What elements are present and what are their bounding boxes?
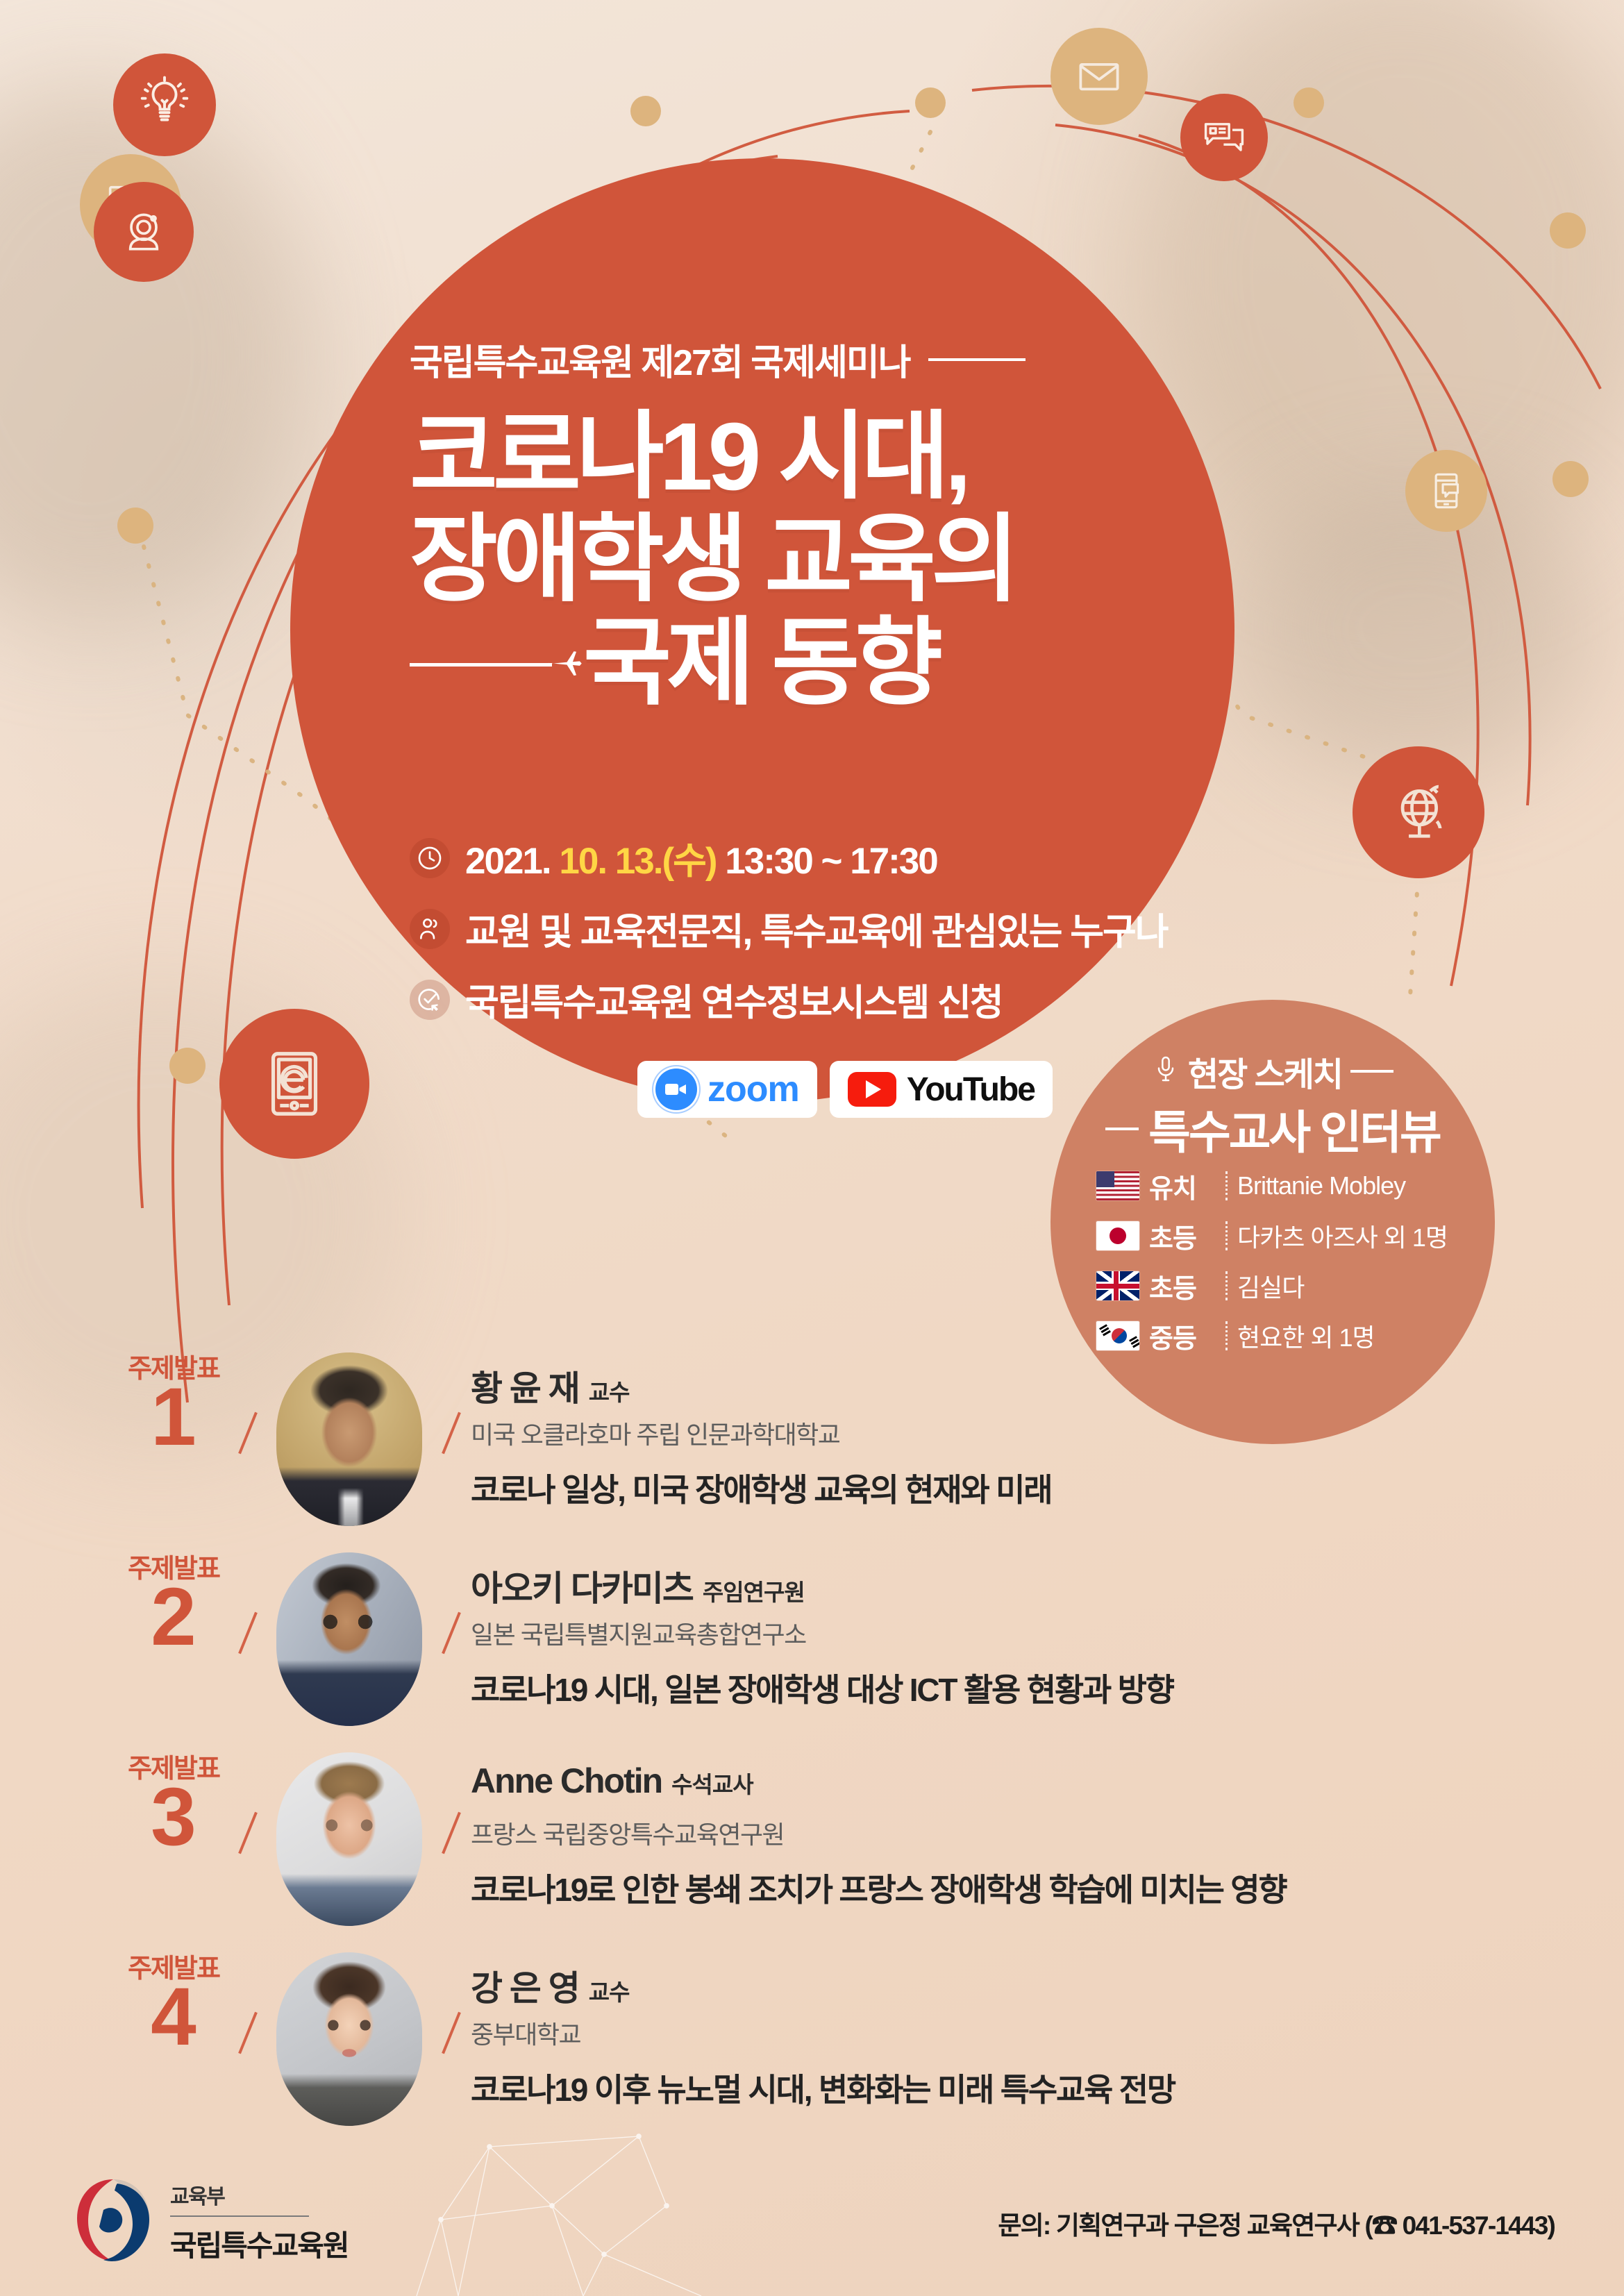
- speaker-org: 프랑스 국립중앙특수교육연구원: [471, 1815, 784, 1851]
- speaker-slash: [442, 1812, 461, 1854]
- speaker-role: 교수: [589, 1979, 630, 2005]
- info-row-audience: 교원 및 교육전문직, 특수교육에 관심있는 누구나: [410, 903, 1173, 955]
- ebook-tablet-icon: [219, 1009, 369, 1159]
- speaker-org: 미국 오클라호마 주립 인문과학대학교: [471, 1415, 839, 1451]
- interview-row: 초등 다카츠 아즈사 외 1명: [1096, 1211, 1457, 1261]
- ministry-name: 교육부: [170, 2179, 348, 2210]
- zoom-icon: [655, 1069, 697, 1110]
- speaker-photo: [276, 1752, 422, 1926]
- speaker-4: 주제발표 4 강 은 영교수 중부대학교 코로나19 이후 뉴노멀 시대, 변화…: [0, 1933, 1624, 2134]
- interview-level: 초등: [1149, 1217, 1216, 1255]
- flag-us-icon: [1096, 1171, 1139, 1200]
- speaker-topic: 코로나 일상, 미국 장애학생 교육의 현재와 미래: [471, 1465, 1051, 1511]
- date-prefix: 2021.: [465, 841, 551, 882]
- speaker-role: 주임연구원: [703, 1579, 805, 1605]
- speaker-1: 주제발표 1 황 윤 재교수 미국 오클라호마 주립 인문과학대학교 코로나 일…: [0, 1333, 1624, 1534]
- interview-name: 김실다: [1237, 1268, 1304, 1304]
- interview-heading-row: 특수교사 인터뷰: [1050, 1096, 1495, 1162]
- speaker-2: 주제발표 2 아오키 다카미츠주임연구원 일본 국립특별지원교육총합연구소 코로…: [0, 1533, 1624, 1734]
- clock-icon: [410, 838, 450, 878]
- microphone-icon: [1152, 1054, 1180, 1089]
- row-separator: [1225, 1221, 1228, 1250]
- row-separator: [1225, 1271, 1228, 1300]
- kicker-label: 국립특수교육원 제27회 국제세미나: [410, 333, 910, 385]
- brand-text: 교육부 국립특수교육원: [170, 2179, 348, 2265]
- speaker-topic: 코로나19 이후 뉴노멀 시대, 변화화는 미래 특수교육 전망: [471, 2065, 1175, 2111]
- speaker-topic: 코로나19 시대, 일본 장애학생 대상 ICT 활용 현황과 방향: [471, 1665, 1173, 1711]
- speaker-topic: 코로나19로 인한 봉쇄 조치가 프랑스 장애학생 학습에 미치는 영향: [471, 1865, 1287, 1911]
- click-check-icon: [410, 980, 450, 1020]
- interview-name: 다카츠 아즈사 외 1명: [1237, 1218, 1448, 1254]
- speaker-slash: [442, 1612, 461, 1654]
- hero-text: 국립특수교육원 제27회 국제세미나 코로나19 시대, 장애학생 교육의 국제…: [410, 333, 1243, 715]
- speaker-name-row: 황 윤 재교수: [471, 1361, 630, 1411]
- flag-uk-icon: [1096, 1271, 1139, 1300]
- mobile-chat-icon: [1405, 450, 1487, 532]
- speaker-name: Anne Chotin: [471, 1761, 662, 1800]
- audience-text: 교원 및 교육전문직, 특수교육에 관심있는 누구나: [465, 903, 1168, 955]
- row-separator: [1225, 1171, 1228, 1200]
- zoom-badge[interactable]: zoom: [637, 1061, 817, 1118]
- kicker-rule: [928, 358, 1026, 361]
- youtube-label: YouTube: [907, 1071, 1035, 1109]
- brand-lockup: 교육부 국립특수교육원: [73, 2177, 348, 2268]
- interview-level: 유치: [1149, 1167, 1216, 1205]
- title-line-3-row: 국제 동향: [410, 612, 1243, 715]
- date-highlight: 10. 13.(수): [559, 841, 716, 882]
- globe-icon: [1353, 746, 1484, 878]
- title-line-2: 장애학생 교육의: [410, 509, 1243, 612]
- seminar-poster: 국립특수교육원 제27회 국제세미나 코로나19 시대, 장애학생 교육의 국제…: [0, 0, 1624, 2296]
- speaker-number: 2: [97, 1576, 250, 1658]
- speaker-org: 중부대학교: [471, 2015, 580, 2051]
- time-range: 13:30 ~ 17:30: [725, 841, 937, 882]
- speaker-name: 황 윤 재: [471, 1369, 579, 1408]
- zoom-label: zoom: [708, 1069, 799, 1110]
- contact-info: 문의: 기획연구과 구은정 교육연구사 (☎ 041-537-1443): [998, 2204, 1555, 2242]
- interview-level: 초등: [1149, 1267, 1216, 1305]
- title-line-1: 코로나19 시대,: [410, 406, 1243, 509]
- speaker-3: 주제발표 3 Anne Chotin수석교사 프랑스 국립중앙특수교육연구원 코…: [0, 1733, 1624, 1934]
- heading-rule: [1105, 1128, 1139, 1130]
- speaker-name-row: Anne Chotin수석교사: [471, 1761, 753, 1801]
- eyebrow-rule: [1350, 1070, 1393, 1073]
- bg-blob-glasses: [1236, 479, 1597, 778]
- speaker-org: 일본 국립특별지원교육총합연구소: [471, 1615, 806, 1651]
- speaker-number: 3: [97, 1776, 250, 1858]
- seminar-kicker: 국립특수교육원 제27회 국제세미나: [410, 333, 1243, 385]
- speaker-photo: [276, 1952, 422, 2126]
- speaker-name: 강 은 영: [471, 1969, 579, 2008]
- envelope-icon: [1050, 28, 1148, 125]
- chat-news-icon: [1180, 94, 1268, 181]
- korea-government-emblem-icon: [73, 2177, 153, 2268]
- speaker-name-row: 아오키 다카미츠주임연구원: [471, 1561, 805, 1611]
- speaker-number: 1: [97, 1376, 250, 1458]
- lightbulb-icon: [113, 53, 216, 156]
- interview-row: 유치 Brittanie Mobley: [1096, 1161, 1457, 1211]
- platform-badges: zoom YouTube: [637, 1061, 1053, 1118]
- people-icon: [410, 909, 450, 949]
- webcam-icon-main: [94, 182, 194, 282]
- footer-network-graphic: [375, 2122, 736, 2296]
- registration-text: 국립특수교육원 연수정보시스템 신청: [465, 973, 1003, 1026]
- interview-eyebrow-row: 현장 스케치: [1050, 1047, 1495, 1096]
- speaker-number: 4: [97, 1976, 250, 2058]
- speaker-name-row: 강 은 영교수: [471, 1961, 630, 2011]
- interview-heading: 특수교사 인터뷰: [1148, 1096, 1439, 1162]
- flag-japan-icon: [1096, 1221, 1139, 1250]
- airplane-icon: [410, 643, 583, 685]
- interview-list: 유치 Brittanie Mobley 초등 다카츠 아즈사 외 1명: [1096, 1161, 1457, 1361]
- datetime-text: 2021. 10. 13.(수) 13:30 ~ 17:30: [465, 832, 937, 885]
- speaker-role: 교수: [589, 1380, 630, 1405]
- speaker-slash: [442, 1412, 461, 1455]
- interview-row: 초등 김실다: [1096, 1261, 1457, 1311]
- footer: 교육부 국립특수교육원 문의: 기획연구과 구은정 교육연구사 (☎ 041-5…: [0, 2143, 1624, 2296]
- youtube-badge[interactable]: YouTube: [830, 1061, 1053, 1118]
- youtube-icon: [848, 1072, 896, 1107]
- speaker-name: 아오키 다카미츠: [471, 1569, 693, 1608]
- speaker-slash: [442, 2012, 461, 2054]
- institute-name: 국립특수교육원: [170, 2222, 348, 2265]
- speaker-photo: [276, 1352, 422, 1526]
- info-row-datetime: 2021. 10. 13.(수) 13:30 ~ 17:30: [410, 832, 1173, 885]
- interview-name: Brittanie Mobley: [1237, 1171, 1405, 1200]
- interview-eyebrow: 현장 스케치: [1188, 1047, 1342, 1096]
- title-line-3: 국제 동향: [583, 612, 938, 715]
- speaker-photo: [276, 1552, 422, 1726]
- brand-divider: [170, 2215, 309, 2217]
- speaker-role: 수석교사: [671, 1772, 753, 1798]
